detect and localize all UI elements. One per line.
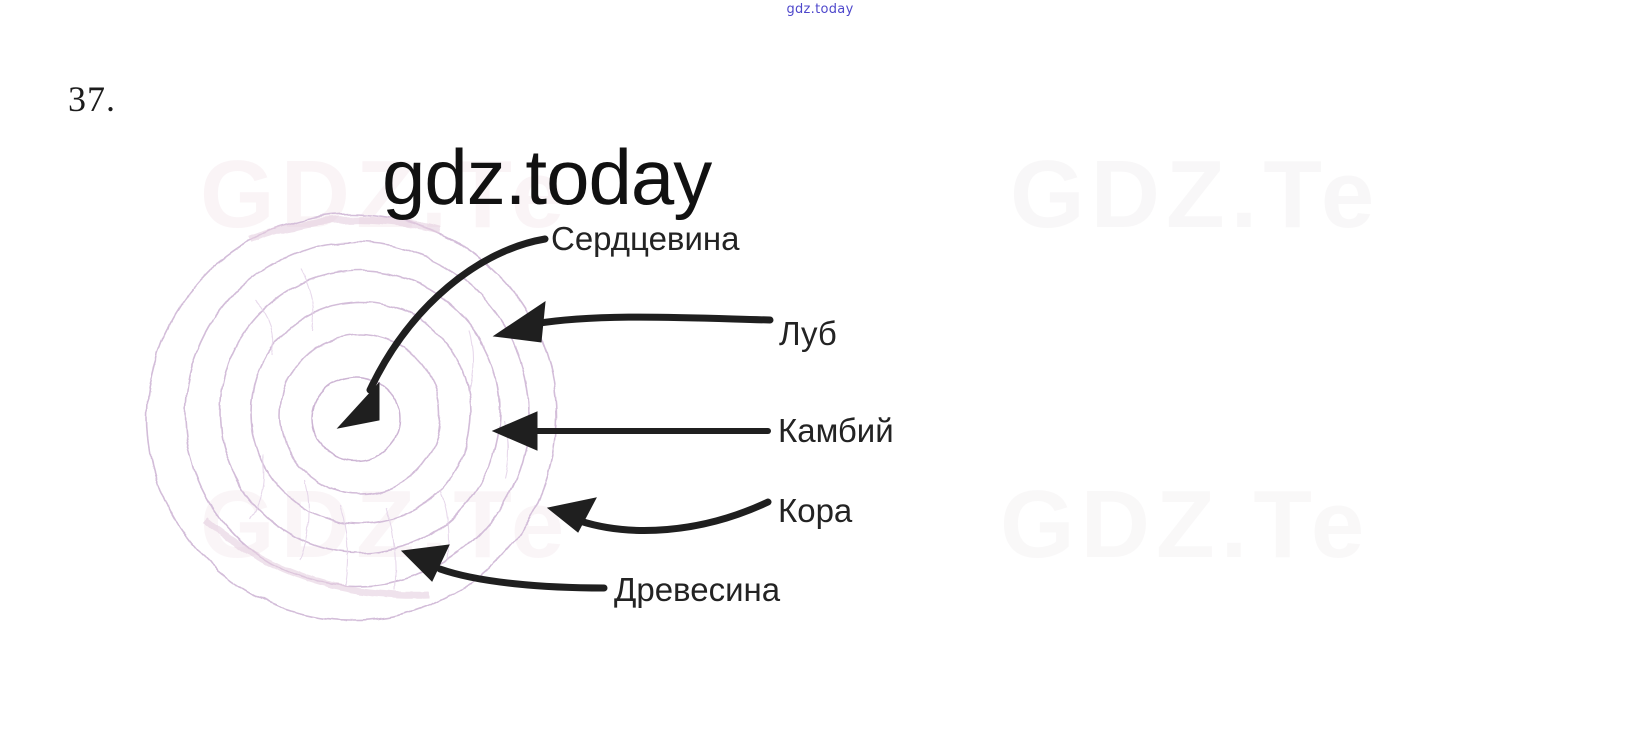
arrow-bark <box>548 498 768 532</box>
leader-arrows-group <box>338 239 770 588</box>
ring-texture-stroke <box>340 505 348 585</box>
ring-smudge <box>250 220 440 240</box>
arrow-pith-shaft <box>370 239 545 390</box>
arrow-pith-head <box>338 383 379 428</box>
arrow-cambium <box>493 412 768 450</box>
ring-smudge <box>205 520 430 595</box>
ring-texture-stroke <box>470 330 474 390</box>
arrow-phloem <box>494 302 770 342</box>
label-bark: Кора <box>778 492 852 530</box>
ring-texture-stroke <box>300 480 309 560</box>
page-canvas: gdz.today GDZ.Te GDZ.Te GDZ.Te GDZ.Te 37… <box>0 0 1640 740</box>
arrow-bark-shaft <box>580 502 768 530</box>
label-pith: Сердцевина <box>551 220 739 258</box>
label-cambium: Камбий <box>778 412 894 450</box>
tree-cross-section-diagram <box>0 0 1640 740</box>
ring-texture-stroke <box>300 268 314 330</box>
label-xylem: Древесина <box>614 571 780 609</box>
arrow-xylem-shaft <box>440 569 604 588</box>
ring-texture-stroke <box>250 455 264 520</box>
label-phloem: Луб <box>779 315 837 353</box>
arrow-xylem <box>402 545 604 588</box>
arrow-phloem-shaft <box>534 317 770 324</box>
